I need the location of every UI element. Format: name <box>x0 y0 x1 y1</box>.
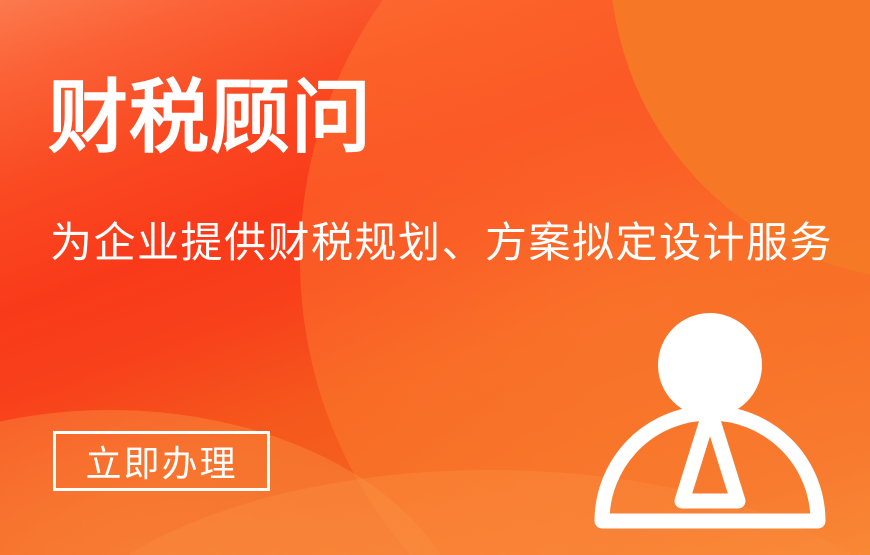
apply-now-button[interactable]: 立即办理 <box>53 431 270 491</box>
person-advisor-icon <box>592 305 832 537</box>
banner-subtitle: 为企业提供财税规划、方案拟定设计服务 <box>50 219 833 267</box>
promo-banner: 财税顾问 为企业提供财税规划、方案拟定设计服务 立即办理 <box>0 0 870 555</box>
banner-content: 财税顾问 为企业提供财税规划、方案拟定设计服务 立即办理 <box>0 0 870 555</box>
banner-title: 财税顾问 <box>48 78 372 158</box>
